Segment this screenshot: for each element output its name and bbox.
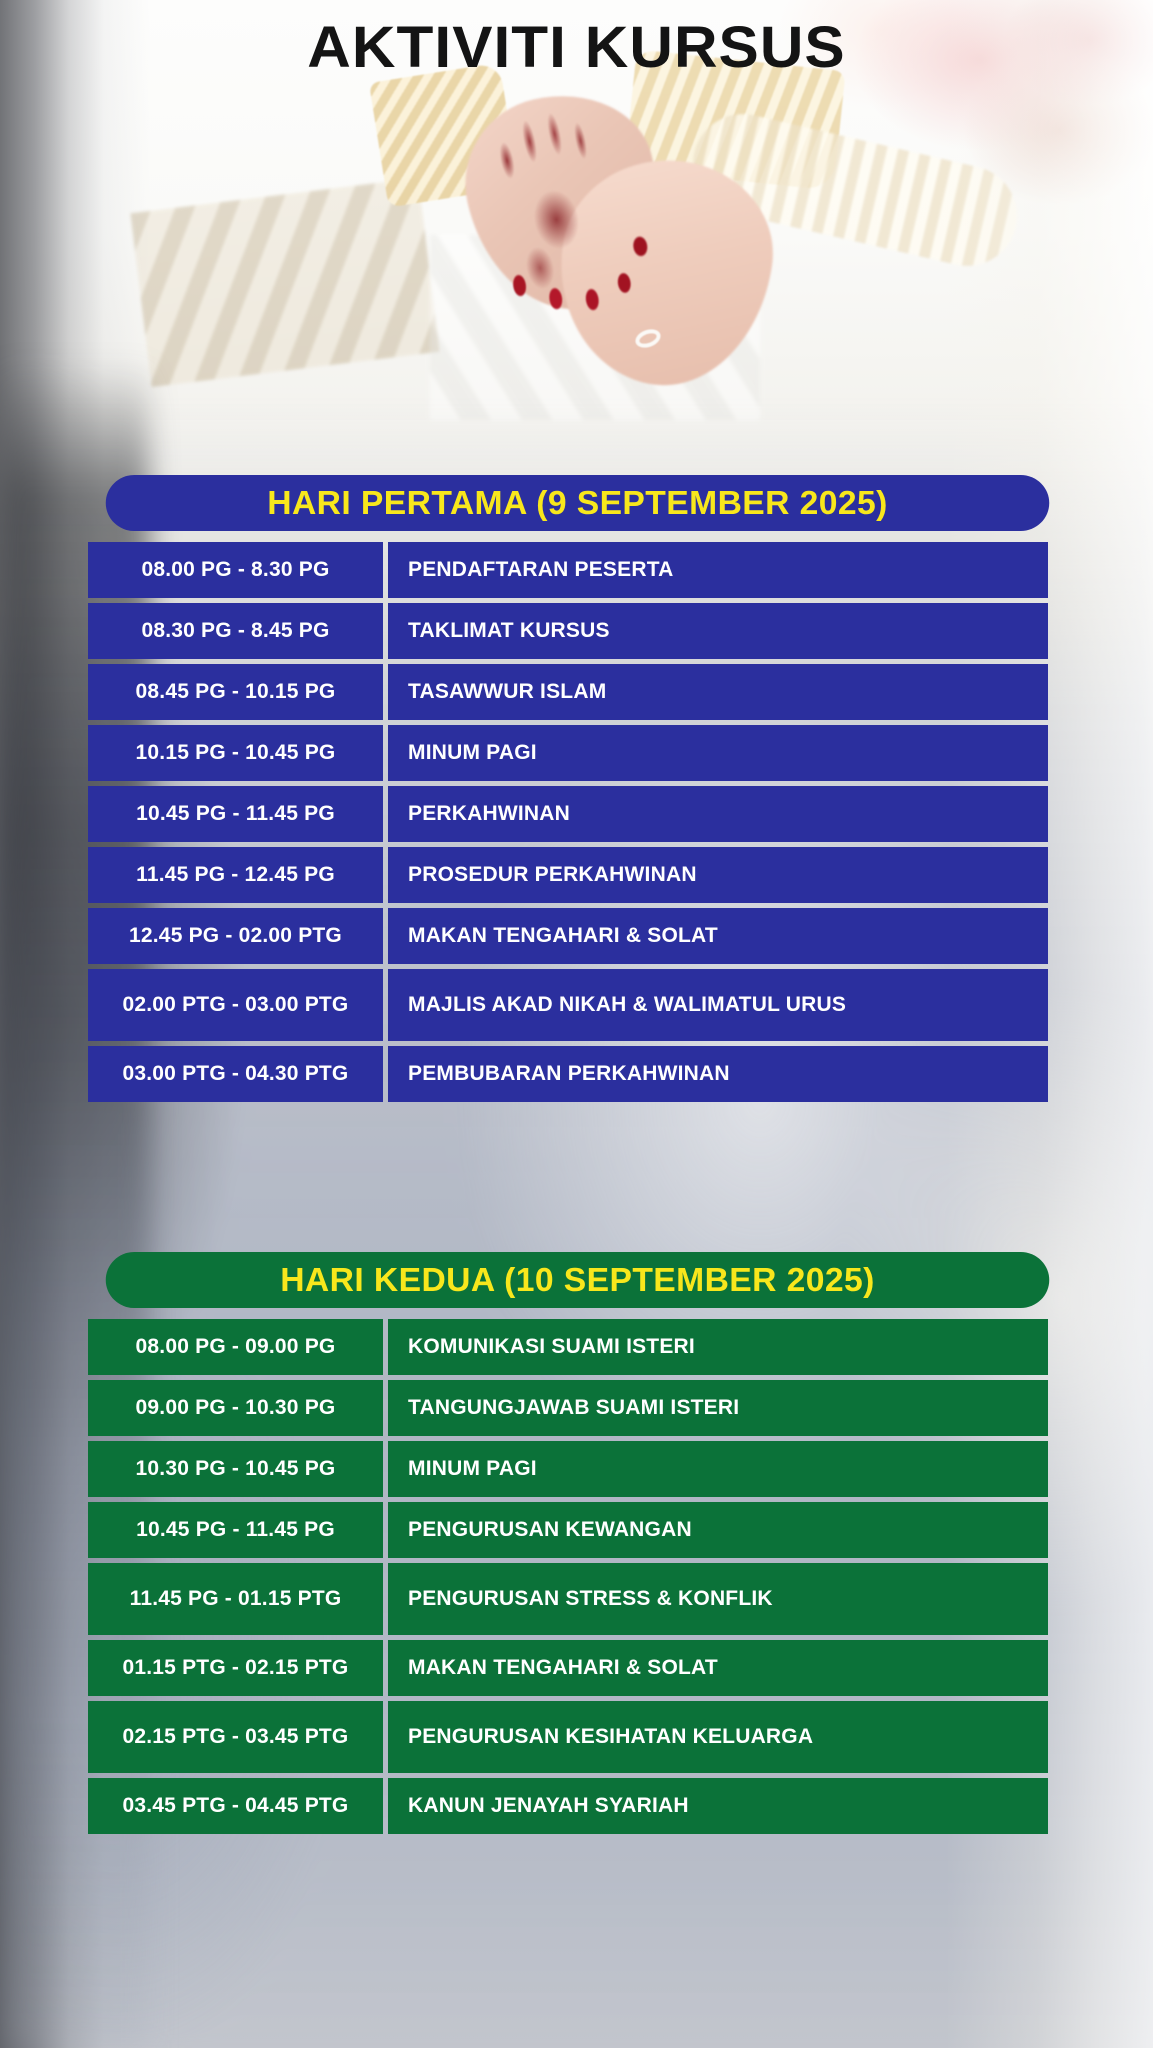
row-time-cell: 09.00 PG - 10.30 PG bbox=[88, 1380, 383, 1436]
row-time-cell: 11.45 PG - 12.45 PG bbox=[88, 847, 383, 903]
schedule-row: 08.00 PG - 8.30 PGPENDAFTARAN PESERTA bbox=[88, 542, 1048, 598]
schedule-row: 11.45 PG - 01.15 PTGPENGURUSAN STRESS & … bbox=[88, 1563, 1048, 1635]
row-activity-cell: PEMBUBARAN PERKAHWINAN bbox=[388, 1046, 1048, 1102]
schedule-row: 02.00 PTG - 03.00 PTGMAJLIS AKAD NIKAH &… bbox=[88, 969, 1048, 1041]
row-activity-cell: PENGURUSAN STRESS & KONFLIK bbox=[388, 1563, 1048, 1635]
row-time-cell: 08.00 PG - 09.00 PG bbox=[88, 1319, 383, 1375]
schedule-row: 10.45 PG - 11.45 PGPENGURUSAN KEWANGAN bbox=[88, 1502, 1048, 1558]
schedule-row: 12.45 PG - 02.00 PTGMAKAN TENGAHARI & SO… bbox=[88, 908, 1048, 964]
row-time-cell: 12.45 PG - 02.00 PTG bbox=[88, 908, 383, 964]
row-time-cell: 02.15 PTG - 03.45 PTG bbox=[88, 1701, 383, 1773]
row-time-cell: 10.30 PG - 10.45 PG bbox=[88, 1441, 383, 1497]
schedule-row: 08.30 PG - 8.45 PGTAKLIMAT KURSUS bbox=[88, 603, 1048, 659]
row-activity-cell: TAKLIMAT KURSUS bbox=[388, 603, 1048, 659]
schedule-row: 09.00 PG - 10.30 PGTANGUNGJAWAB SUAMI IS… bbox=[88, 1380, 1048, 1436]
row-activity-cell: TASAWWUR ISLAM bbox=[388, 664, 1048, 720]
row-time-cell: 10.15 PG - 10.45 PG bbox=[88, 725, 383, 781]
schedule-row: 11.45 PG - 12.45 PGPROSEDUR PERKAHWINAN bbox=[88, 847, 1048, 903]
schedule-row: 08.45 PG - 10.15 PGTASAWWUR ISLAM bbox=[88, 664, 1048, 720]
row-activity-cell: MAKAN TENGAHARI & SOLAT bbox=[388, 1640, 1048, 1696]
schedule-section-day2: HARI KEDUA (10 SEPTEMBER 2025) 08.00 PG … bbox=[88, 1252, 1048, 1839]
schedule-section-day1: HARI PERTAMA (9 SEPTEMBER 2025) 08.00 PG… bbox=[88, 475, 1048, 1107]
row-time-cell: 08.30 PG - 8.45 PG bbox=[88, 603, 383, 659]
row-time-cell: 08.45 PG - 10.15 PG bbox=[88, 664, 383, 720]
row-time-cell: 08.00 PG - 8.30 PG bbox=[88, 542, 383, 598]
row-time-cell: 02.00 PTG - 03.00 PTG bbox=[88, 969, 383, 1041]
row-activity-cell: PENDAFTARAN PESERTA bbox=[388, 542, 1048, 598]
schedule-row: 08.00 PG - 09.00 PGKOMUNIKASI SUAMI ISTE… bbox=[88, 1319, 1048, 1375]
schedule-row: 10.30 PG - 10.45 PGMINUM PAGI bbox=[88, 1441, 1048, 1497]
page-title: AKTIVITI KURSUS bbox=[0, 14, 1153, 81]
schedule-row: 03.00 PTG - 04.30 PTGPEMBUBARAN PERKAHWI… bbox=[88, 1046, 1048, 1102]
row-activity-cell: PROSEDUR PERKAHWINAN bbox=[388, 847, 1048, 903]
day2-header-pill: HARI KEDUA (10 SEPTEMBER 2025) bbox=[106, 1252, 1050, 1308]
row-activity-cell: PENGURUSAN KEWANGAN bbox=[388, 1502, 1048, 1558]
row-activity-cell: MAJLIS AKAD NIKAH & WALIMATUL URUS bbox=[388, 969, 1048, 1041]
row-time-cell: 03.00 PTG - 04.30 PTG bbox=[88, 1046, 383, 1102]
row-activity-cell: KOMUNIKASI SUAMI ISTERI bbox=[388, 1319, 1048, 1375]
row-time-cell: 10.45 PG - 11.45 PG bbox=[88, 786, 383, 842]
row-time-cell: 03.45 PTG - 04.45 PTG bbox=[88, 1778, 383, 1834]
row-time-cell: 11.45 PG - 01.15 PTG bbox=[88, 1563, 383, 1635]
schedule-row: 10.45 PG - 11.45 PGPERKAHWINAN bbox=[88, 786, 1048, 842]
row-activity-cell: MAKAN TENGAHARI & SOLAT bbox=[388, 908, 1048, 964]
row-activity-cell: TANGUNGJAWAB SUAMI ISTERI bbox=[388, 1380, 1048, 1436]
day1-header-pill: HARI PERTAMA (9 SEPTEMBER 2025) bbox=[106, 475, 1050, 531]
row-activity-cell: PENGURUSAN KESIHATAN KELUARGA bbox=[388, 1701, 1048, 1773]
row-activity-cell: MINUM PAGI bbox=[388, 1441, 1048, 1497]
row-activity-cell: PERKAHWINAN bbox=[388, 786, 1048, 842]
row-time-cell: 10.45 PG - 11.45 PG bbox=[88, 1502, 383, 1558]
day1-rows: 08.00 PG - 8.30 PGPENDAFTARAN PESERTA08.… bbox=[88, 542, 1048, 1102]
row-time-cell: 01.15 PTG - 02.15 PTG bbox=[88, 1640, 383, 1696]
schedule-row: 01.15 PTG - 02.15 PTGMAKAN TENGAHARI & S… bbox=[88, 1640, 1048, 1696]
schedule-row: 03.45 PTG - 04.45 PTGKANUN JENAYAH SYARI… bbox=[88, 1778, 1048, 1834]
poster-canvas: AKTIVITI KURSUS HARI PERTAMA (9 SEPTEMBE… bbox=[0, 0, 1153, 2048]
schedule-row: 02.15 PTG - 03.45 PTGPENGURUSAN KESIHATA… bbox=[88, 1701, 1048, 1773]
day2-rows: 08.00 PG - 09.00 PGKOMUNIKASI SUAMI ISTE… bbox=[88, 1319, 1048, 1834]
row-activity-cell: MINUM PAGI bbox=[388, 725, 1048, 781]
schedule-row: 10.15 PG - 10.45 PGMINUM PAGI bbox=[88, 725, 1048, 781]
row-activity-cell: KANUN JENAYAH SYARIAH bbox=[388, 1778, 1048, 1834]
